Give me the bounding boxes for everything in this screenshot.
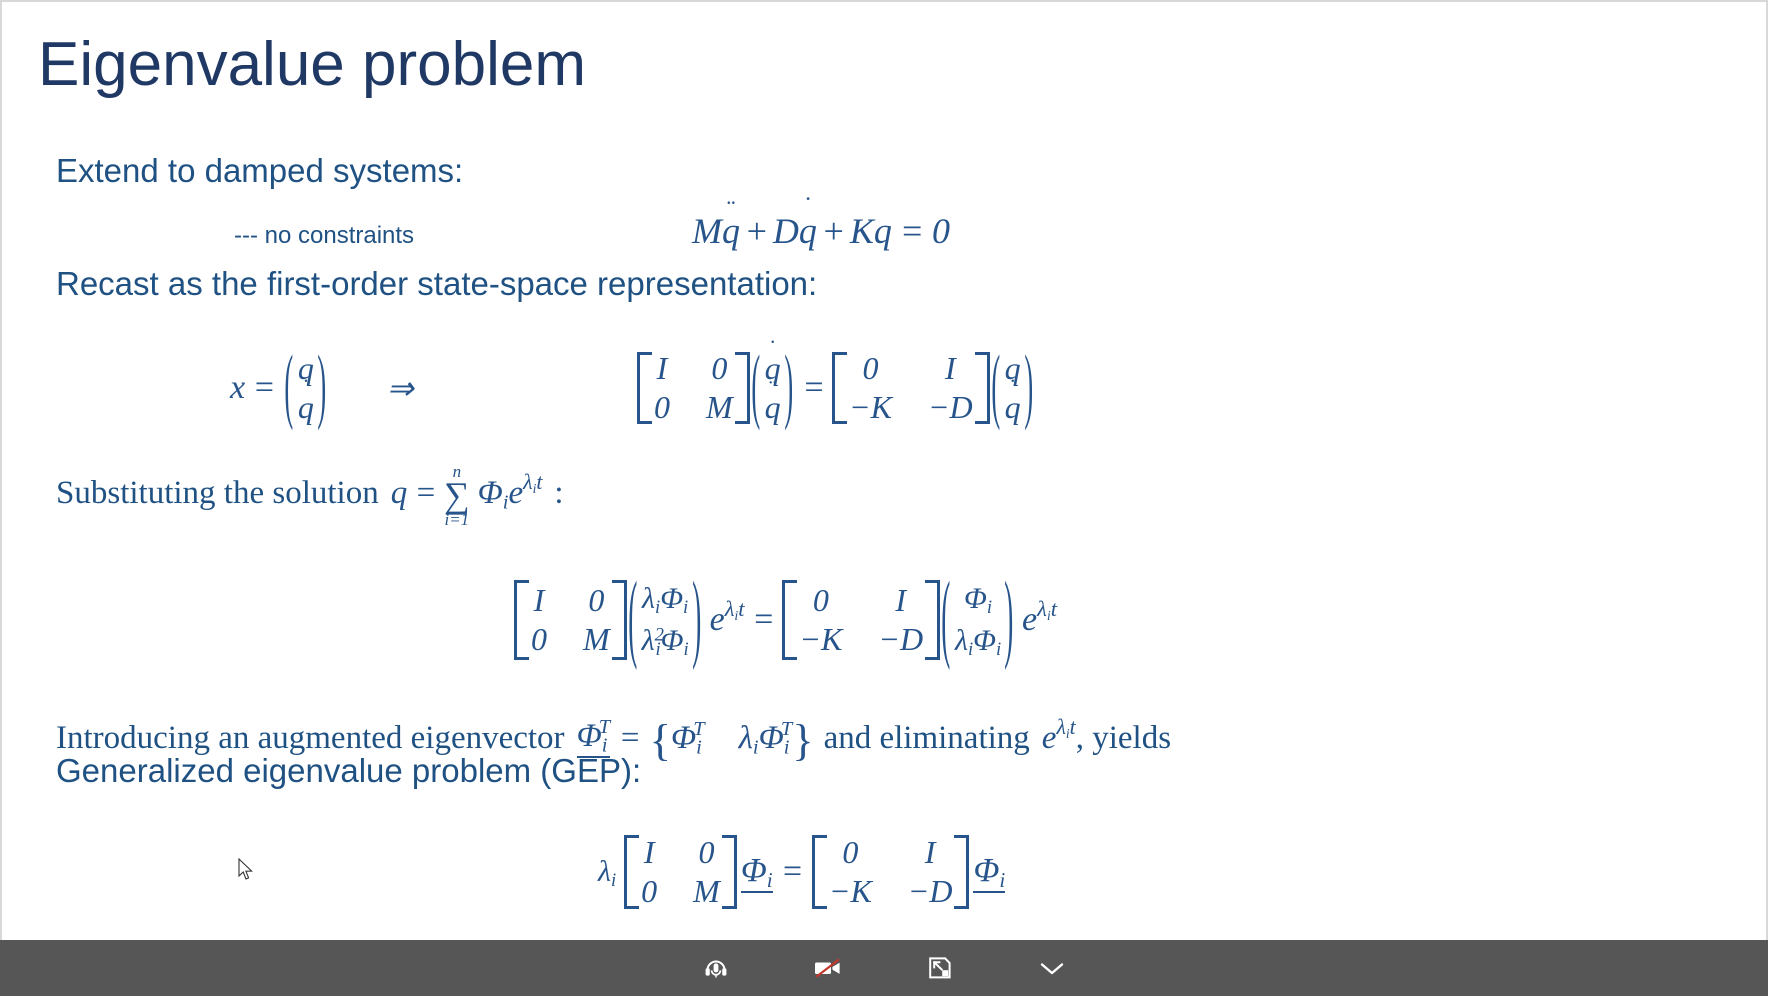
gep-lambda: λi xyxy=(598,855,616,889)
gep-rK: −K xyxy=(827,873,874,910)
vector-state: q ˙ q xyxy=(1003,350,1023,426)
se-row2: λ2iΦi xyxy=(640,624,691,658)
eom-q-dot: ˙ q xyxy=(799,210,817,252)
vector-state-derivative: ˙ q ¨ q xyxy=(763,350,783,426)
bracket-open-4 xyxy=(782,580,797,660)
sum-sigma: ∑ xyxy=(444,479,470,511)
substituted-matrix-equation: I 0 0 M ( λiΦi λ2iΦi ) eλit = 0 I xyxy=(514,580,1057,660)
se-rD: −D xyxy=(876,621,925,658)
gep-M: M xyxy=(691,873,722,910)
paren-open-3: ( xyxy=(991,341,1001,434)
sub-Phi: Φi xyxy=(478,475,509,512)
bracket-close-4 xyxy=(925,580,940,660)
gep-0b: 0 xyxy=(639,873,659,910)
bracket-close-6 xyxy=(954,835,969,909)
paren-close-4: ) xyxy=(692,565,702,675)
matrix-system-right-3: 0 I −K −D xyxy=(827,834,955,910)
eom-q3: q xyxy=(874,210,892,252)
se-rrow1: Φi xyxy=(953,582,1003,616)
introducing-suffix: , yields xyxy=(1076,720,1171,757)
matrix-mass-left: I 0 0 M xyxy=(652,350,735,426)
sv-equals: = xyxy=(245,369,283,407)
se-rrow2: λiΦi xyxy=(953,624,1003,658)
ss-rD: −D xyxy=(926,389,975,426)
paren-open-5: ( xyxy=(941,565,951,675)
meeting-toolbar xyxy=(0,940,1768,996)
matrix-system-right: 0 I −K −D xyxy=(847,350,975,426)
se-equals: = xyxy=(745,601,783,639)
dot-accent: ˙ xyxy=(804,194,813,220)
gep-I: I xyxy=(639,834,659,871)
paren-close-2: ) xyxy=(784,341,794,434)
matrix-mass-left-3: I 0 0 M xyxy=(639,834,722,910)
paren-open-4: ( xyxy=(628,565,638,675)
ss-q-dot-2: ˙ q xyxy=(1003,389,1023,426)
ss-0b: 0 xyxy=(652,389,672,426)
gep-0a: 0 xyxy=(691,834,722,871)
ss-equals: = xyxy=(795,369,832,407)
sub-exp: λit xyxy=(523,470,542,494)
se-rK: −K xyxy=(797,621,844,658)
aug-term-2: λiΦiT xyxy=(739,720,793,757)
paren-close: ) xyxy=(317,341,327,434)
se-r0: 0 xyxy=(797,582,844,619)
matrix-system-right-2: 0 I −K −D xyxy=(797,582,925,658)
implies-arrow: ⇒ xyxy=(387,369,414,407)
ss-rI: I xyxy=(926,350,975,387)
state-vector-definition: x = ( q ˙ q ) ⇒ xyxy=(230,350,414,426)
mouse-cursor xyxy=(238,858,256,882)
ss-M: M xyxy=(704,389,735,426)
bracket-open-6 xyxy=(812,835,827,909)
eom-M: M xyxy=(692,210,722,252)
page-title: Eigenvalue problem xyxy=(38,32,586,97)
sub-q: q xyxy=(391,475,408,512)
substituting-prefix: Substituting the solution xyxy=(56,475,379,512)
ss-rK: −K xyxy=(847,389,894,426)
paren-close-5: ) xyxy=(1004,565,1014,675)
se-M: M xyxy=(581,621,612,658)
chevron-down-icon[interactable] xyxy=(1025,946,1079,990)
ss-I: I xyxy=(652,350,672,387)
summation-operator: n ∑ i=1 xyxy=(444,464,470,527)
line-substituting-solution: Substituting the solution q = n ∑ i=1 Φi… xyxy=(56,462,564,525)
gep-equation: λi I 0 0 M Φi = 0 I −K −D Φi xyxy=(598,834,1005,910)
bracket-close-2 xyxy=(975,352,990,424)
state-vector-matrix: q ˙ q xyxy=(296,350,316,426)
sub-equals: = xyxy=(407,475,444,512)
se-rI: I xyxy=(876,582,925,619)
se-row1: λiΦi xyxy=(640,582,691,616)
line-extend-to-damped-systems: Extend to damped systems: xyxy=(56,152,463,190)
bracket-close-1 xyxy=(735,352,750,424)
brace-close: } xyxy=(792,714,813,766)
se-exp-left: eλit xyxy=(710,601,745,639)
aug-equals: = xyxy=(610,720,649,757)
ss-0a: 0 xyxy=(704,350,735,387)
restore-icon[interactable] xyxy=(913,946,967,990)
sum-lower: i=1 xyxy=(444,512,469,527)
headset-icon[interactable] xyxy=(689,946,743,990)
eom-D: D xyxy=(773,210,799,252)
se-0b: 0 xyxy=(529,621,549,658)
bracket-open-2 xyxy=(832,352,847,424)
line-generalized-eigenvalue-problem: Generalized eigenvalue problem (GEP): xyxy=(56,752,641,790)
matrix-mass-left-2: I 0 0 M xyxy=(529,582,612,658)
presentation-slide: Eigenvalue problem Extend to damped syst… xyxy=(0,0,1768,940)
sv-x: x xyxy=(230,369,245,407)
note-no-constraints: --- no constraints xyxy=(234,222,414,250)
screen: Eigenvalue problem Extend to damped syst… xyxy=(0,0,1768,996)
introducing-prefix: Introducing an augmented eigenvector xyxy=(56,720,565,757)
dot-accent: ˙ xyxy=(302,376,310,399)
bracket-close-5 xyxy=(722,835,737,909)
vector-modal-derivative: λiΦi λ2iΦi xyxy=(640,582,691,658)
eom-plus-2: + xyxy=(817,210,850,252)
ss-q-ddot: ¨ q xyxy=(763,389,783,426)
eom-zero: 0 xyxy=(932,210,950,252)
eom-plus-1: + xyxy=(740,210,773,252)
se-0a: 0 xyxy=(581,582,612,619)
ddot-accent: ¨ xyxy=(769,377,777,400)
ss-r0: 0 xyxy=(847,350,894,387)
se-exp-right: eλit xyxy=(1022,601,1057,639)
bracket-close-3 xyxy=(612,580,627,660)
paren-close-3: ) xyxy=(1024,341,1034,434)
substituting-colon: : xyxy=(554,475,563,512)
eliminating-exponential: eλit xyxy=(1042,720,1076,757)
equation-of-motion: M ¨ q + D ˙ q + K q = 0 xyxy=(692,210,950,252)
gep-Phi-left: Φi xyxy=(741,852,773,893)
bracket-open-3 xyxy=(514,580,529,660)
state-space-equation: I 0 0 M ( ˙ q ¨ q ) = 0 xyxy=(637,350,1035,426)
vector-modal: Φi λiΦi xyxy=(953,582,1003,658)
bracket-open-5 xyxy=(624,835,639,909)
eom-equals: = xyxy=(892,210,932,252)
se-I: I xyxy=(529,582,549,619)
paren-open: ( xyxy=(284,341,294,434)
camera-off-icon[interactable] xyxy=(801,946,855,990)
dot-accent: ˙ xyxy=(769,337,777,360)
ddot-accent: ¨ xyxy=(727,197,736,223)
paren-open-2: ( xyxy=(751,341,761,434)
sub-e: eλit xyxy=(508,475,542,512)
gep-Phi-right: Φi xyxy=(973,852,1005,893)
dot-accent: ˙ xyxy=(1009,376,1017,399)
brace-open: { xyxy=(650,714,671,766)
gep-equals: = xyxy=(773,853,812,891)
eom-q-ddot: ¨ q xyxy=(722,210,740,252)
gep-rD: −D xyxy=(906,873,955,910)
bracket-open-1 xyxy=(637,352,652,424)
introducing-mid: and eliminating xyxy=(824,720,1030,757)
gep-r0: 0 xyxy=(827,834,874,871)
sv-q-dot: ˙ q xyxy=(296,389,316,426)
eom-K: K xyxy=(850,210,874,252)
aug-term-1: ΦiT xyxy=(671,720,705,757)
gep-rI: I xyxy=(906,834,955,871)
line-recast-state-space: Recast as the first-order state-space re… xyxy=(56,265,817,303)
